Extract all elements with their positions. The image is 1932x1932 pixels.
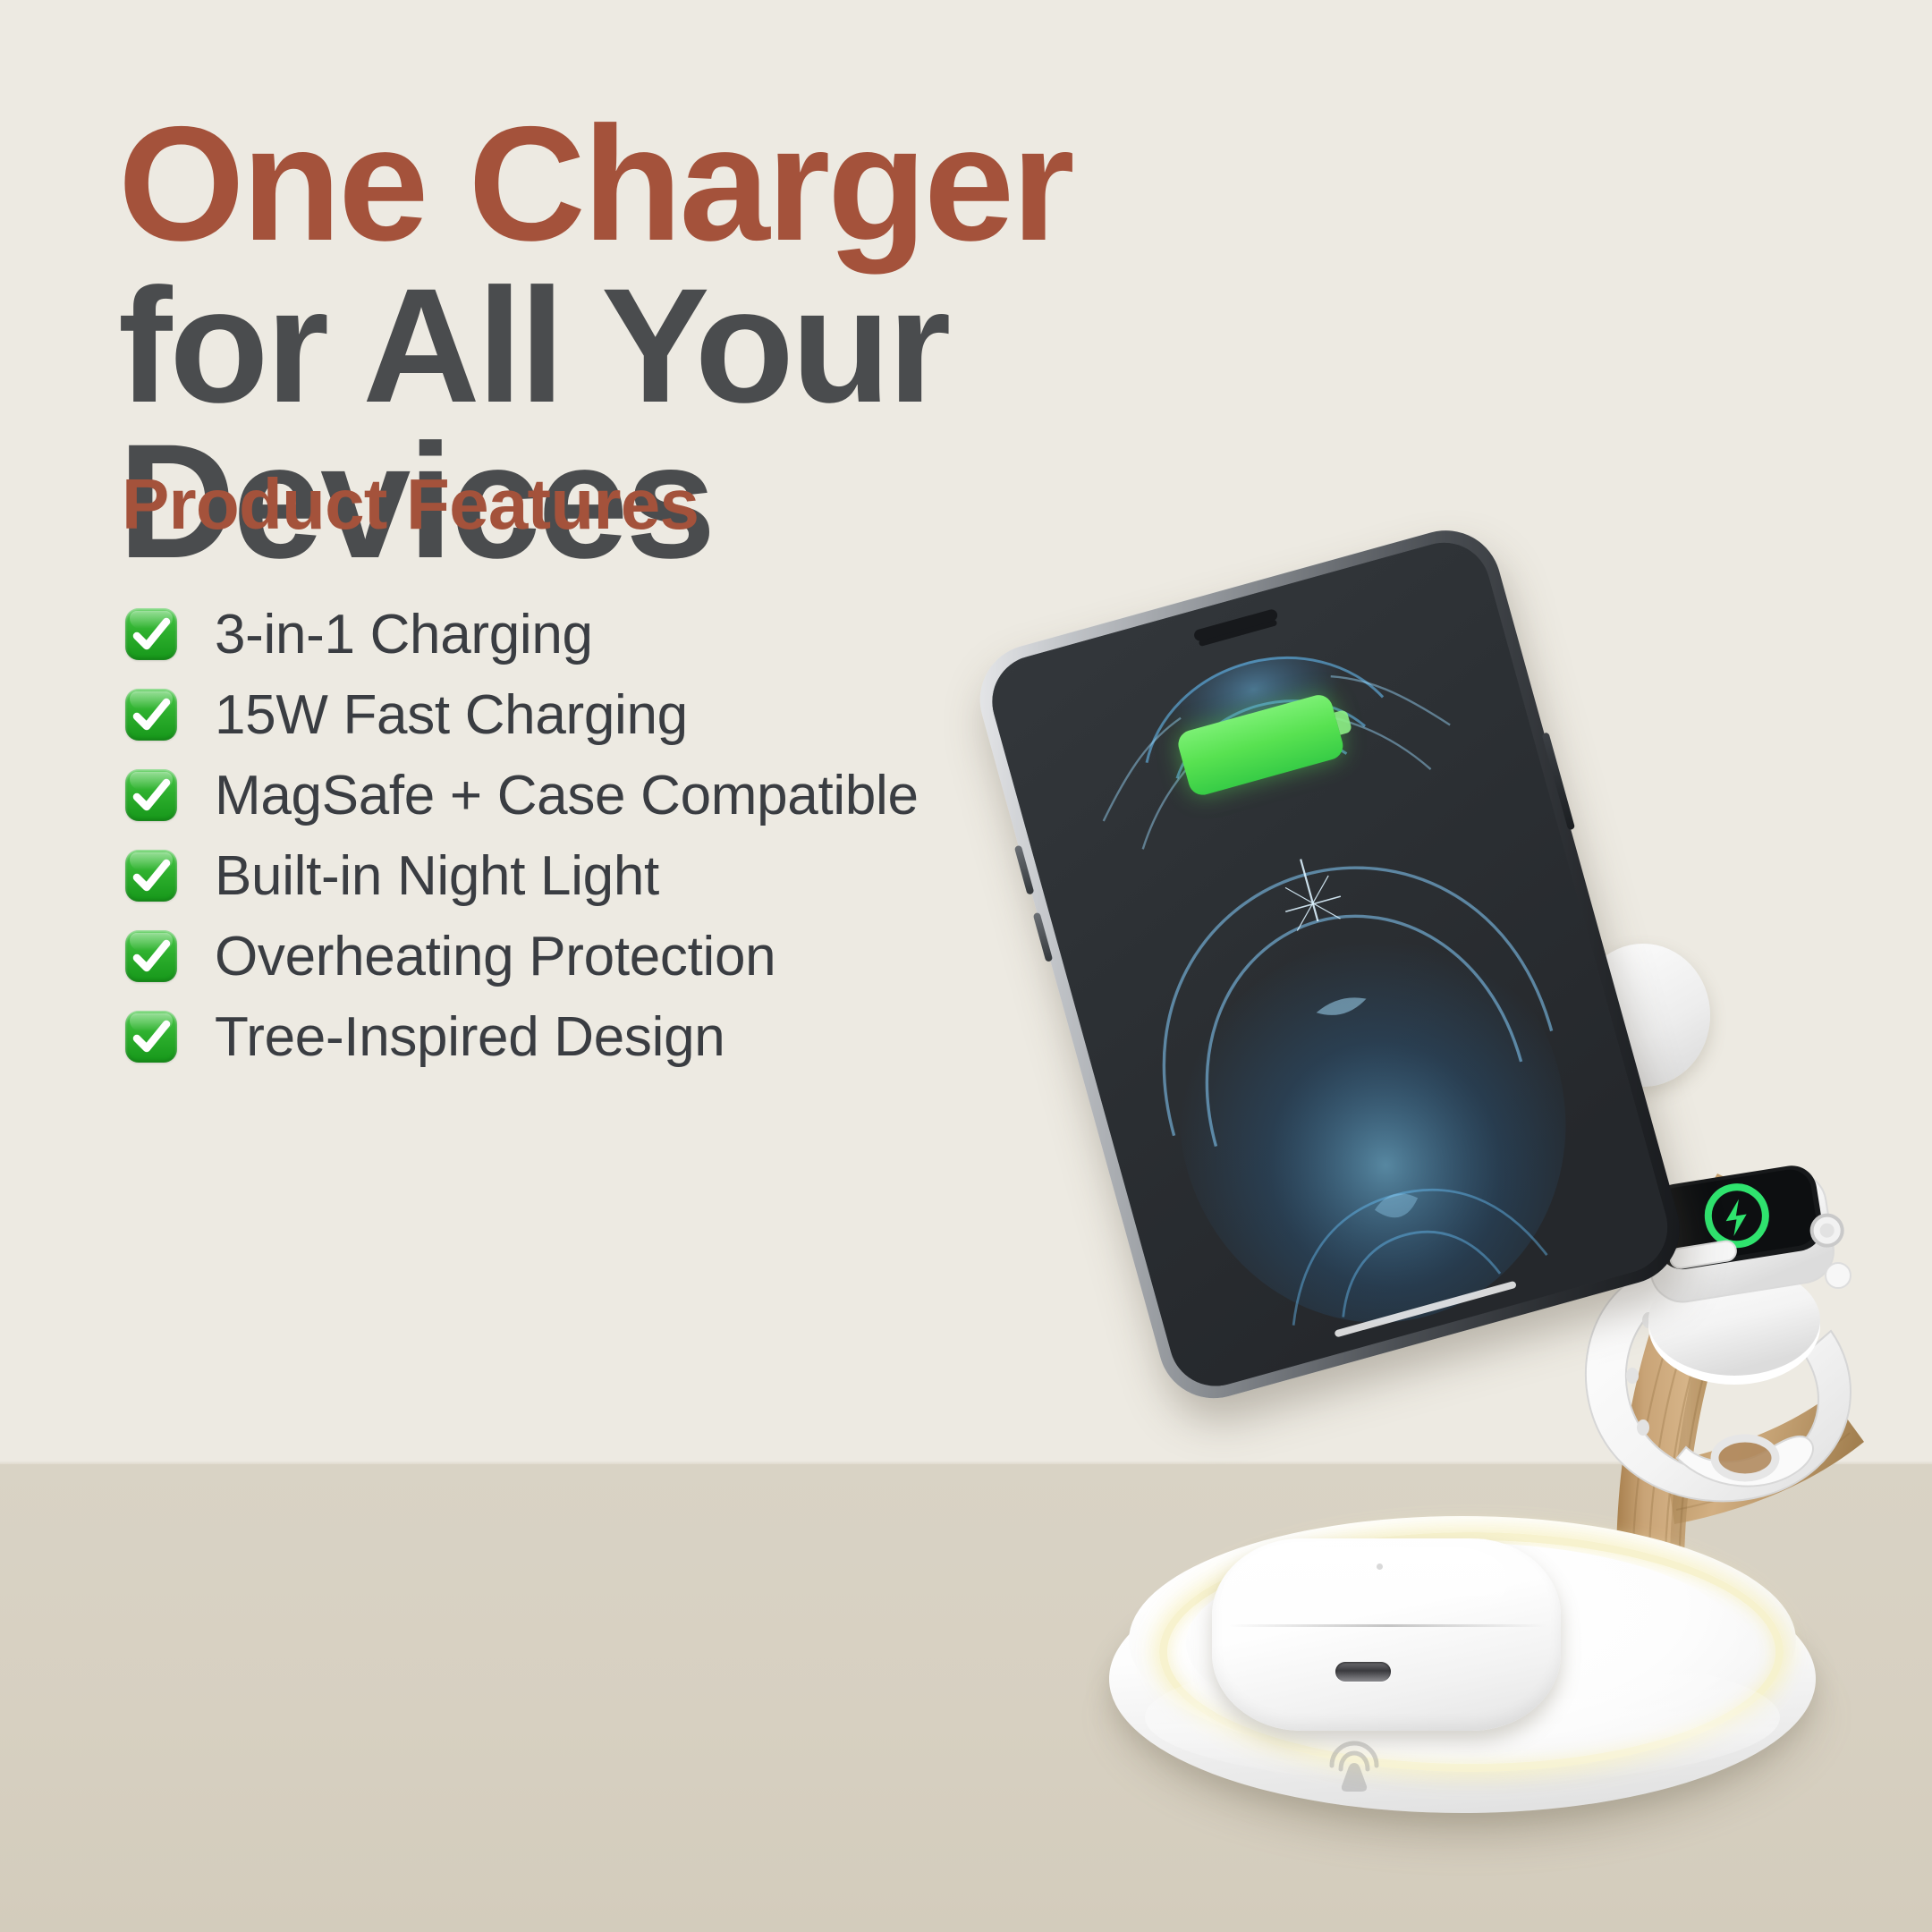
feature-label: Overheating Protection: [215, 925, 775, 988]
check-mark-button-icon: [125, 1011, 177, 1063]
earbuds-case: [1212, 1538, 1561, 1744]
usb-c-port-icon: [1335, 1662, 1391, 1682]
earbuds-case-highlight: [1239, 1547, 1507, 1614]
check-mark-button-icon: [125, 769, 177, 821]
wireless-charging-touch-icon: [1319, 1736, 1389, 1799]
earbuds-case-lid-seam: [1228, 1624, 1546, 1627]
feature-item: Tree-Inspired Design: [125, 996, 1181, 1077]
product-features-title: Product Features: [122, 463, 699, 546]
earbuds-status-led: [1377, 1563, 1383, 1570]
headline-line-1: One Charger: [118, 106, 1460, 262]
product-image: [1029, 537, 1932, 1932]
feature-label: 15W Fast Charging: [215, 683, 688, 747]
check-mark-button-icon: [125, 930, 177, 982]
feature-label: Built-in Night Light: [215, 844, 659, 908]
feature-item: Overheating Protection: [125, 916, 1181, 996]
check-mark-button-icon: [125, 608, 177, 660]
feature-label: MagSafe + Case Compatible: [215, 764, 919, 827]
check-mark-button-icon: [125, 689, 177, 741]
poster-canvas: One Charger for All Your Devices Product…: [0, 0, 1932, 1932]
feature-label: Tree-Inspired Design: [215, 1005, 724, 1069]
feature-label: 3-in-1 Charging: [215, 603, 593, 666]
check-mark-button-icon: [125, 850, 177, 902]
